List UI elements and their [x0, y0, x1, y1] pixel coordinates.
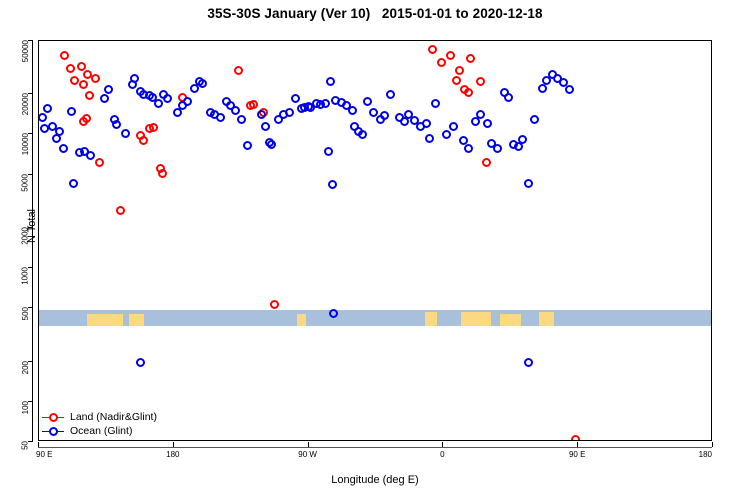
data-point-ocean [216, 113, 225, 122]
data-point-ocean [483, 119, 492, 128]
y-tick-label: 10000 [21, 133, 30, 155]
x-tick-mark [38, 442, 39, 447]
strip-land-segment [87, 314, 123, 326]
data-point-ocean [326, 77, 335, 86]
x-tick-mark [173, 442, 174, 447]
data-point-ocean [163, 94, 172, 103]
data-point-land [82, 114, 91, 123]
strip-land-segment [129, 314, 144, 326]
data-point-ocean [136, 358, 145, 367]
data-point-ocean [538, 84, 547, 93]
x-tick-label: 180 [699, 450, 712, 459]
data-point-ocean [291, 94, 300, 103]
chart-root: 35S-30S January (Ver 10) 2015-01-01 to 2… [0, 0, 750, 500]
data-point-land [91, 74, 100, 83]
data-point-ocean [67, 107, 76, 116]
data-point-ocean [504, 93, 513, 102]
data-point-ocean [243, 141, 252, 150]
data-point-ocean [530, 115, 539, 124]
data-point-ocean [104, 85, 113, 94]
data-point-land [85, 91, 94, 100]
x-tick-label: 90 W [298, 450, 317, 459]
data-point-land [482, 158, 491, 167]
y-tick-label: 20000 [21, 93, 30, 115]
data-point-ocean [154, 99, 163, 108]
data-point-ocean [476, 110, 485, 119]
data-point-ocean [425, 134, 434, 143]
data-point-land [79, 80, 88, 89]
data-point-land [571, 435, 580, 441]
strip-land-segment [500, 314, 521, 326]
data-point-ocean [348, 106, 357, 115]
x-tick-mark [712, 442, 713, 447]
data-point-land [452, 76, 461, 85]
data-point-ocean [86, 151, 95, 160]
x-axis-line [38, 447, 712, 448]
x-tick-label: 180 [166, 450, 179, 459]
y-tick-label: 50 [21, 441, 30, 450]
legend-label: Ocean (Glint) [70, 424, 132, 438]
data-point-ocean [363, 97, 372, 106]
data-point-ocean [442, 130, 451, 139]
data-point-ocean [324, 147, 333, 156]
data-point-ocean [524, 179, 533, 188]
data-point-ocean [43, 104, 52, 113]
data-point-ocean [59, 144, 68, 153]
data-point-ocean [431, 99, 440, 108]
data-point-ocean [183, 97, 192, 106]
data-point-ocean [422, 119, 431, 128]
data-point-ocean [328, 180, 337, 189]
data-point-land [116, 206, 125, 215]
x-tick-mark [308, 442, 309, 447]
legend-label: Land (Nadir&Glint) [70, 410, 157, 424]
data-point-land [149, 123, 158, 132]
strip-land-segment [297, 314, 306, 326]
data-point-land [428, 45, 437, 54]
data-point-ocean [121, 129, 130, 138]
data-point-ocean [380, 111, 389, 120]
data-point-ocean [464, 144, 473, 153]
strip-land-segment [539, 312, 554, 326]
data-point-ocean [130, 74, 139, 83]
y-tick-label: 100 [21, 401, 30, 414]
data-point-ocean [449, 122, 458, 131]
data-point-ocean [493, 144, 502, 153]
data-point-ocean [38, 113, 47, 122]
legend-marker-icon [42, 414, 64, 420]
y-tick-label: 50000 [21, 40, 30, 62]
data-point-ocean [257, 110, 266, 119]
data-point-ocean [518, 135, 527, 144]
data-point-ocean [285, 108, 294, 117]
x-tick-mark [577, 442, 578, 447]
data-point-land [95, 158, 104, 167]
data-point-land [464, 88, 473, 97]
data-point-ocean [198, 79, 207, 88]
data-point-ocean [69, 179, 78, 188]
data-point-land [234, 66, 243, 75]
strip-land-segment [461, 312, 491, 326]
data-point-land [70, 76, 79, 85]
legend-marker-icon [42, 428, 64, 434]
data-point-ocean [358, 130, 367, 139]
y-axis-label: N Total [26, 166, 38, 286]
data-point-ocean [267, 140, 276, 149]
data-point-ocean [321, 99, 330, 108]
page-title: 35S-30S January (Ver 10) 2015-01-01 to 2… [0, 6, 750, 21]
data-point-ocean [565, 85, 574, 94]
data-point-ocean [386, 90, 395, 99]
data-point-ocean [100, 94, 109, 103]
y-tick-label: 500 [21, 307, 30, 320]
plot-area [38, 40, 712, 441]
data-point-ocean [329, 309, 338, 318]
data-point-land [466, 54, 475, 63]
data-point-land [446, 51, 455, 60]
strip-land-segment [425, 312, 437, 326]
data-point-ocean [261, 122, 270, 131]
data-point-ocean [524, 358, 533, 367]
x-tick-label: 90 E [569, 450, 585, 459]
data-point-ocean [237, 115, 246, 124]
data-point-land [139, 136, 148, 145]
data-point-ocean [112, 120, 121, 129]
data-point-ocean [55, 127, 64, 136]
x-tick-label: 90 E [36, 450, 52, 459]
data-point-land [158, 169, 167, 178]
x-axis-label: Longitude (deg E) [0, 474, 750, 486]
y-tick-label: 200 [21, 361, 30, 374]
data-point-land [476, 77, 485, 86]
x-tick-label: 0 [440, 450, 444, 459]
x-tick-mark [442, 442, 443, 447]
data-point-land [60, 51, 69, 60]
data-point-land [66, 64, 75, 73]
data-point-land [437, 58, 446, 67]
data-point-land [249, 100, 258, 109]
data-point-land [455, 66, 464, 75]
data-point-land [270, 300, 279, 309]
data-point-ocean [231, 106, 240, 115]
